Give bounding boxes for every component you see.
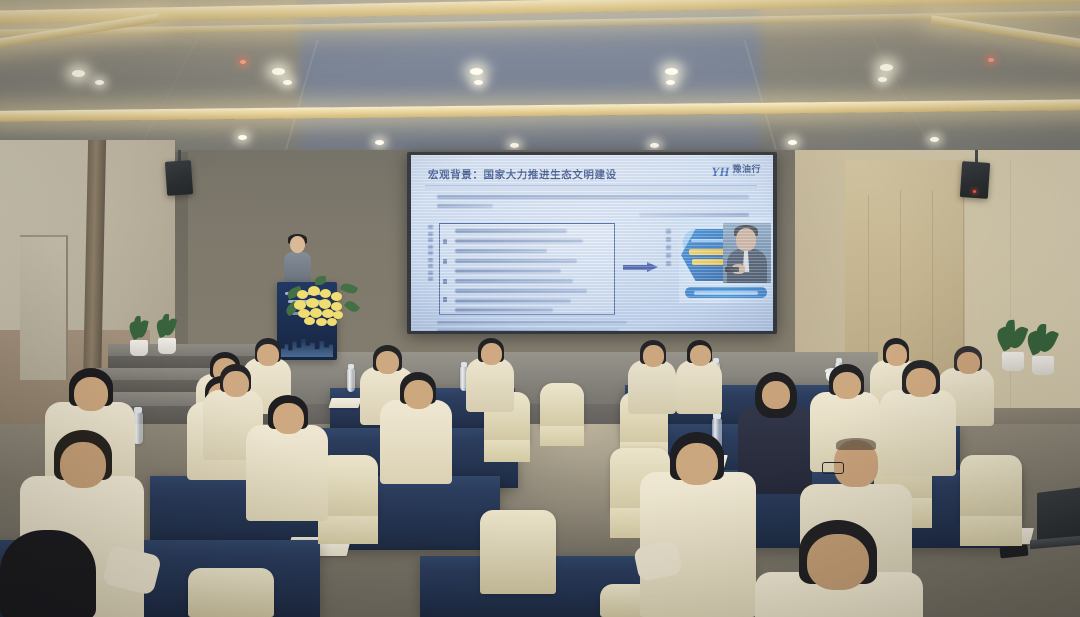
ceiling-downlight: [272, 68, 285, 75]
slide-arrow-icon: [623, 263, 659, 272]
ceiling-downlight: [510, 143, 519, 148]
slide-title: 宏观背景：国家大力推进生态文明建设: [428, 167, 617, 182]
flower-arrangement: [285, 272, 357, 334]
chair[interactable]: [480, 510, 556, 594]
eyeglasses: [822, 462, 844, 474]
microphone-icon: [725, 267, 739, 272]
notepad[interactable]: [328, 398, 361, 408]
plant-pot: [158, 338, 176, 354]
bottle-cap: [461, 362, 467, 367]
ceiling-downlight: [95, 80, 104, 85]
chair[interactable]: [188, 568, 274, 617]
logo-company-name-en: YU YOU HANG: [732, 175, 761, 178]
slide-bullet-line: [455, 229, 567, 233]
slide-quote-line: [437, 195, 749, 199]
company-logo: YH 豫油行 YU YOU HANG: [711, 165, 761, 178]
ceiling-downlight: [666, 80, 675, 85]
slide-bullet-line: [455, 299, 571, 303]
ceiling-downlight: [474, 80, 483, 85]
bullet-group-marker: [443, 279, 447, 284]
slide-footer-line: [437, 329, 619, 331]
ceiling-downlight: [665, 68, 678, 75]
bottle-cap: [134, 407, 142, 413]
wall-speaker-left: [165, 160, 193, 196]
bullet-group-marker: [443, 297, 447, 302]
bottle-cap: [836, 358, 842, 363]
led-screen: 宏观背景：国家大力推进生态文明建设 YH 豫油行 YU YOU HANG: [411, 155, 773, 331]
ceiling-downlight: [878, 77, 887, 82]
slide-title-rule-secondary: [425, 188, 757, 189]
door[interactable]: [20, 235, 68, 380]
ceiling-downlight: [238, 135, 247, 140]
logo-company-name-cn: 豫油行: [732, 165, 761, 174]
chair-skirt: [484, 440, 530, 462]
slide-bullet-line: [455, 239, 583, 243]
hex-caption-top: [691, 239, 725, 242]
slide-bullet-line: [455, 249, 547, 253]
chair[interactable]: [540, 383, 584, 429]
slide-graphic: [679, 217, 773, 303]
plant-pot: [1002, 352, 1024, 371]
wood-panel-seam: [1010, 160, 1011, 410]
slide-bullet-line: [455, 289, 587, 293]
slide-pill-caption: [685, 287, 767, 298]
ceiling-indicator-light: [988, 58, 994, 62]
slide-title-rule: [425, 185, 757, 186]
ceiling-downlight: [930, 137, 939, 142]
plant-pot: [130, 340, 148, 356]
plant-pot: [1032, 356, 1054, 375]
bottle-cap: [348, 364, 354, 369]
slide-quote-attribution: [639, 213, 749, 217]
chair-skirt: [318, 516, 378, 544]
ceiling-downlight: [650, 143, 659, 148]
chair-skirt: [540, 426, 584, 446]
slide-bullet-line: [455, 308, 553, 312]
logo-mark-icon: YH: [711, 165, 729, 178]
slide-right-vertical-label: [664, 229, 673, 266]
slide-quote-line: [437, 204, 493, 208]
podium-skyline-graphic: [281, 335, 333, 357]
bullet-group-marker: [443, 239, 447, 244]
ceiling-downlight: [880, 64, 893, 71]
ceiling-downlight: [788, 140, 797, 145]
ceiling-downlight: [283, 80, 292, 85]
slide-left-vertical-label: [426, 225, 435, 281]
presenter-head: [290, 236, 305, 253]
bullet-group-marker: [443, 259, 447, 264]
ceiling-downlight: [72, 70, 85, 77]
hex-caption-main-2: [692, 259, 726, 265]
slide-bullet-line: [455, 279, 573, 283]
chair[interactable]: [960, 455, 1022, 521]
slide-footer-line: [437, 321, 627, 324]
water-bottle[interactable]: [347, 368, 355, 392]
chair-skirt: [960, 516, 1022, 546]
ceiling-downlight: [375, 140, 384, 145]
slide-portrait-photo: [723, 223, 771, 283]
speaker-led-indicator: [973, 190, 976, 193]
slide-bullet-line: [455, 269, 561, 273]
ceiling-indicator-light: [240, 60, 246, 64]
slide-bullet-line: [455, 259, 577, 263]
wall-speaker-right: [960, 161, 990, 199]
ceiling-downlight: [470, 68, 483, 75]
conference-hall-scene: 宏观背景：国家大力推进生态文明建设 YH 豫油行 YU YOU HANG: [0, 0, 1080, 617]
